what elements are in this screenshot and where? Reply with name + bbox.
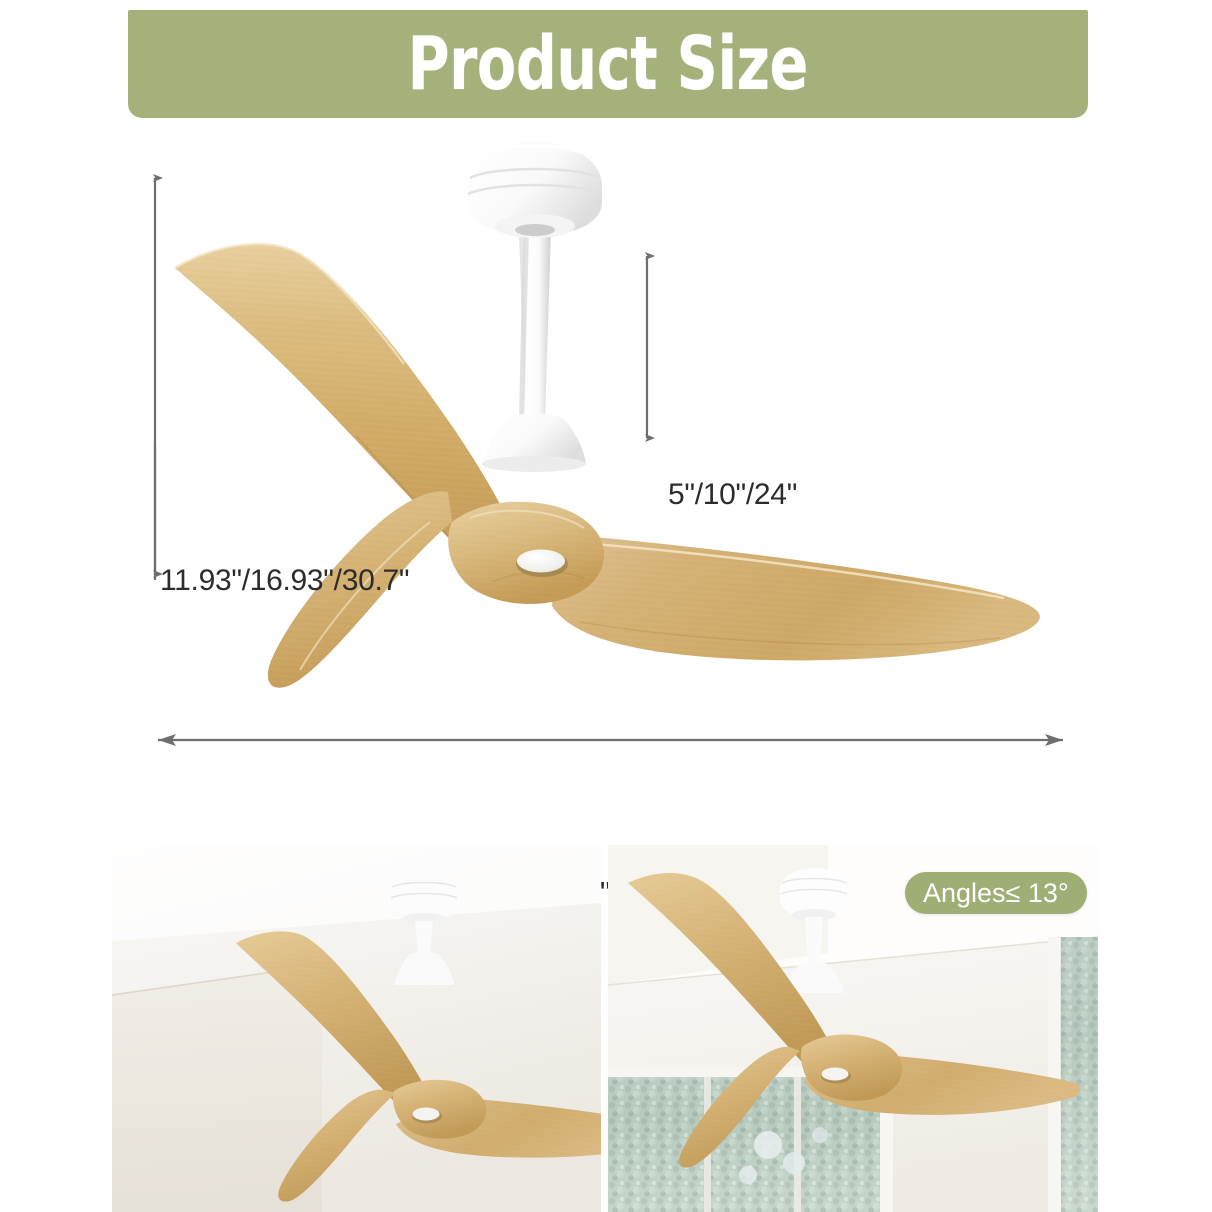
dimension-diagram: 11.93"/16.93"/30.7" 5"/10"/24" 52" xyxy=(0,130,1212,820)
photo-left-svg xyxy=(112,845,601,1212)
fan-illustration-svg xyxy=(0,130,1212,820)
ceiling-canopy xyxy=(468,142,602,238)
status-badge-angles: Angles≤ 13° xyxy=(905,872,1087,914)
product-size-infographic: Product Size xyxy=(0,0,1212,1212)
photo-row: Angles≤ 13° xyxy=(0,845,1212,1212)
header-banner: Product Size xyxy=(128,10,1088,118)
status-badge-label: Angles≤ 13° xyxy=(923,878,1069,909)
fan-blade-right xyxy=(552,534,1040,660)
photo-fan-plain-wall xyxy=(112,845,601,1212)
downrod xyxy=(482,230,586,472)
fan-blade-upper-left xyxy=(175,244,512,560)
page-title: Product Size xyxy=(408,27,808,101)
dimension-label-drop: 5"/10"/24" xyxy=(668,478,797,512)
light-lens xyxy=(517,550,565,573)
dimension-label-height: 11.93"/16.93"/30.7" xyxy=(160,564,409,598)
fan-hub xyxy=(448,502,604,604)
fan-body xyxy=(175,142,1040,688)
window-right xyxy=(1048,937,1098,1212)
photo-fan-window-room: Angles≤ 13° xyxy=(608,845,1098,1212)
